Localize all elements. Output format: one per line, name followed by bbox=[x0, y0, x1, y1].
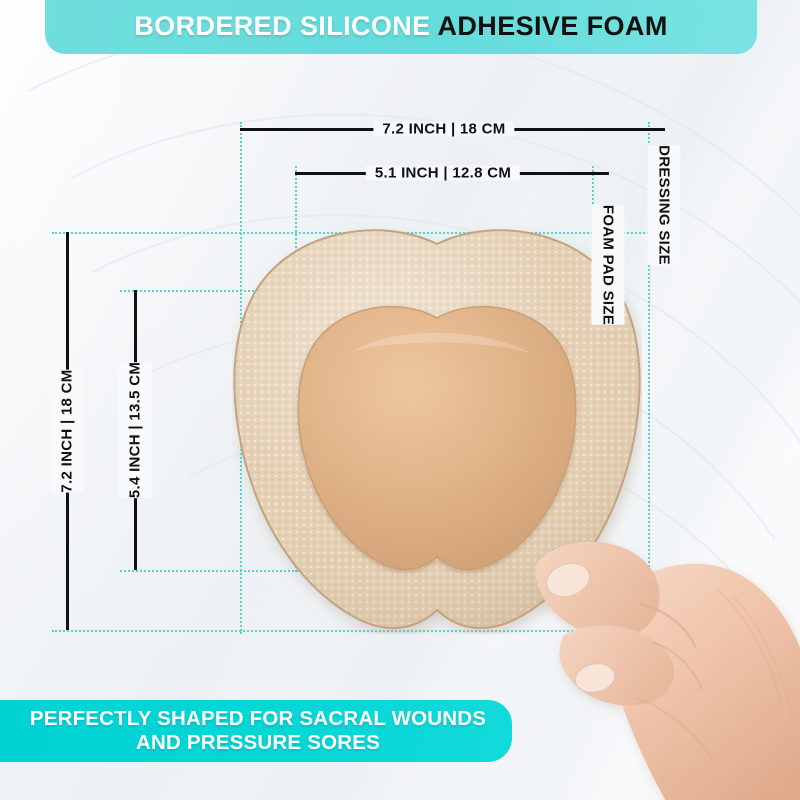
dimension-label-left-inner: 5.4 INCH | 13.5 CM bbox=[119, 362, 152, 498]
footer-caption-line-2: AND PRESSURE SORES bbox=[30, 731, 486, 755]
page-title: BORDERED SILICONE ADHESIVE FOAM bbox=[134, 9, 667, 40]
dimension-label-left-outer: 7.2 INCH | 18 CM bbox=[51, 369, 84, 492]
dimension-connector-right-outer bbox=[612, 128, 665, 131]
hand-holding-dressing bbox=[520, 492, 800, 800]
dimension-label-right-outer: DRESSING SIZE bbox=[648, 145, 681, 265]
title-part-adhesive-foam: ADHESIVE FOAM bbox=[438, 11, 668, 41]
footer-caption-line-1: PERFECTLY SHAPED FOR SACRAL WOUNDS bbox=[30, 707, 486, 731]
dimension-connector-right-inner bbox=[560, 172, 609, 175]
dimension-label-right-inner: FOAM PAD SIZE bbox=[592, 205, 625, 325]
footer-caption: PERFECTLY SHAPED FOR SACRAL WOUNDS AND P… bbox=[30, 707, 486, 755]
dimension-label-top-inner: 5.1 INCH | 12.8 CM bbox=[366, 166, 520, 181]
dimension-label-top-outer: 7.2 INCH | 18 CM bbox=[373, 122, 514, 137]
header-banner: BORDERED SILICONE ADHESIVE FOAM bbox=[45, 0, 757, 54]
title-part-bordered-silicone: BORDERED SILICONE bbox=[134, 11, 430, 41]
footer-banner: PERFECTLY SHAPED FOR SACRAL WOUNDS AND P… bbox=[0, 700, 512, 762]
product-infographic: BORDERED SILICONE ADHESIVE FOAM bbox=[0, 0, 800, 800]
